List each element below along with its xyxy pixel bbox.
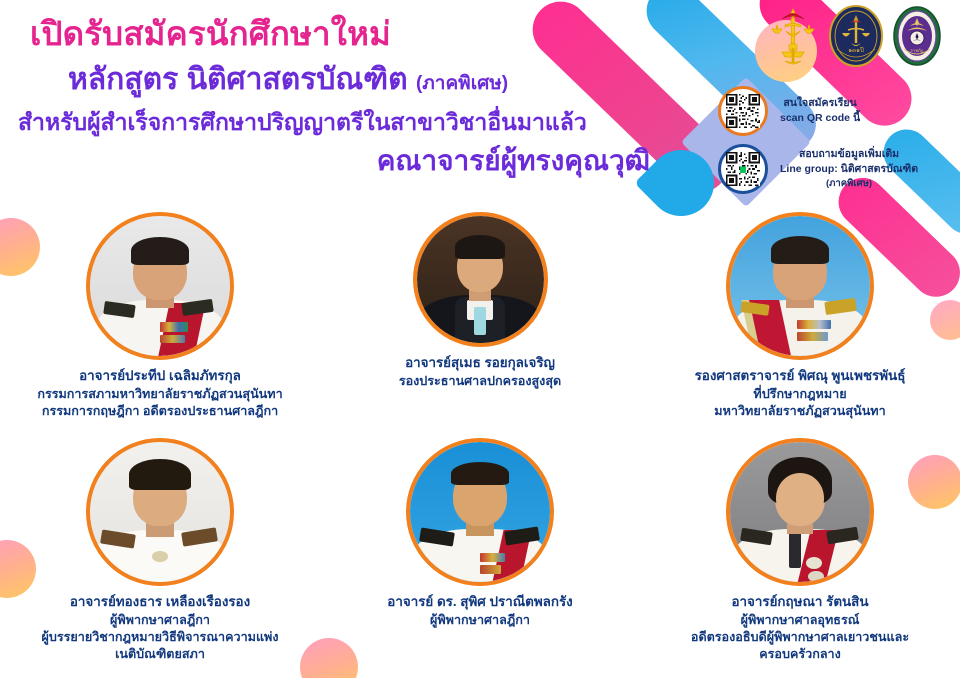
faculty-row-1: อาจารย์ประทีป เฉลิมภัทรกุล กรรมการสภามหา… [0, 212, 960, 438]
scales-of-justice-emblem-icon [766, 5, 820, 72]
faculty-name: อาจารย์ ดร. สุพิศ ปราณีตพลกรัง [387, 593, 572, 612]
faculty-caption: อาจารย์ ดร. สุพิศ ปราณีตพลกรัง ผู้พิพากษ… [387, 593, 572, 629]
faculty-title: รองประธานศาลปกครองสูงสุด [399, 373, 561, 390]
faculty-title: ผู้พิพากษาศาลฎีกา [387, 612, 572, 629]
headline-program: หลักสูตร นิติศาสตรบัณฑิต (ภาคพิเศษ) [0, 62, 660, 99]
svg-text:๑๓๑ปี: ๑๓๑ปี [848, 46, 864, 54]
faculty-title: ผู้พิพากษาศาลฎีกา [41, 612, 278, 629]
faculty-name: รองศาสตราจารย์ พิศณุ พูนเพชรพันธุ์ [695, 367, 906, 386]
qr-line-group-caption-line2: Line group: นิติศาสตรบัณฑิต [780, 162, 918, 177]
faculty-caption: อาจารย์ประทีป เฉลิมภัทรกุล กรรมการสภามหา… [37, 367, 282, 420]
qr-line-group-caption-line1: สอบถามข้อมูลเพิ่มเติม [780, 147, 918, 162]
qr-line-group-ring[interactable] [718, 144, 768, 194]
qr-apply-row[interactable]: สนใจสมัครเรียน scan QR code นี้ [718, 86, 860, 136]
headline-admissions: เปิดรับสมัครนักศึกษาใหม่ [0, 14, 660, 54]
faculty-title: กรรมการกฤษฎีกา อดีตรองประธานศาลฎีกา [37, 403, 282, 420]
suan-sunandha-university-seal-icon: ราชภัฏ [892, 5, 942, 72]
svg-text:ราชภัฏ: ราชภัฏ [910, 48, 923, 53]
avatar [413, 212, 548, 347]
qr-apply-caption: สนใจสมัครเรียน scan QR code นี้ [780, 96, 860, 126]
avatar [86, 212, 234, 360]
faculty-title: อดีตรองอธิบดีผู้พิพากษาศาลเยาวชนและ [691, 629, 909, 646]
faculty-card-prateep: อาจารย์ประทีป เฉลิมภัทรกุล กรรมการสภามหา… [0, 212, 320, 438]
qr-apply-caption-line2: scan QR code นี้ [780, 111, 860, 126]
faculty-card-supit: อาจารย์ ดร. สุพิศ ปราณีตพลกรัง ผู้พิพากษ… [320, 438, 640, 674]
faculty-name: อาจารย์ประทีป เฉลิมภัทรกุล [37, 367, 282, 386]
avatar [86, 438, 234, 586]
faculty-grid: อาจารย์ประทีป เฉลิมภัทรกุล กรรมการสภามหา… [0, 212, 960, 674]
faculty-caption: อาจารย์สุเมธ รอยกุลเจริญ รองประธานศาลปกค… [399, 354, 561, 390]
faculty-card-kritsana: อาจารย์กฤษณา รัตนสิน ผู้พิพากษาศาลอุทธรณ… [640, 438, 960, 674]
faculty-caption: อาจารย์ทองธาร เหลืองเรืองรอง ผู้พิพากษาศ… [41, 593, 278, 664]
qr-line-group-caption: สอบถามข้อมูลเพิ่มเติม Line group: นิติศา… [780, 147, 918, 190]
faculty-title: กรรมการสภามหาวิทยาลัยราชภัฏสวนสุนันทา [37, 386, 282, 403]
faculty-card-pisanu: รองศาสตราจารย์ พิศณุ พูนเพชรพันธุ์ ที่ปร… [640, 212, 960, 438]
headline-faculty: คณาจารย์ผู้ทรงคุณวุฒิ [0, 144, 660, 178]
faculty-caption: รองศาสตราจารย์ พิศณุ พูนเพชรพันธุ์ ที่ปร… [695, 367, 906, 420]
court-of-justice-seal-icon: ๑๓๑ปี [828, 5, 884, 72]
poster-root: เปิดรับสมัครนักศึกษาใหม่ หลักสูตร นิติศา… [0, 0, 960, 678]
headline-program-main: หลักสูตร นิติศาสตรบัณฑิต [68, 63, 416, 96]
qr-line-group-row[interactable]: สอบถามข้อมูลเพิ่มเติม Line group: นิติศา… [718, 144, 918, 194]
faculty-card-sumet: อาจารย์สุเมธ รอยกุลเจริญ รองประธานศาลปกค… [320, 212, 640, 438]
headline-program-special: (ภาคพิเศษ) [416, 73, 508, 94]
faculty-row-2: อาจารย์ทองธาร เหลืองเรืองรอง ผู้พิพากษาศ… [0, 438, 960, 674]
qr-apply-code-icon [726, 94, 760, 128]
qr-line-group-caption-line3: (ภาคพิเศษ) [780, 177, 918, 190]
qr-apply-caption-line1: สนใจสมัครเรียน [780, 96, 860, 111]
faculty-title: เนติบัณฑิตยสภา [41, 646, 278, 663]
faculty-name: อาจารย์กฤษณา รัตนสิน [691, 593, 909, 612]
qr-line-group-code-icon [726, 152, 760, 186]
qr-apply-ring[interactable] [718, 86, 768, 136]
faculty-title: มหาวิทยาลัยราชภัฏสวนสุนันทา [695, 403, 906, 420]
faculty-caption: อาจารย์กฤษณา รัตนสิน ผู้พิพากษาศาลอุทธรณ… [691, 593, 909, 664]
faculty-name: อาจารย์ทองธาร เหลืองเรืองรอง [41, 593, 278, 612]
faculty-title: ที่ปรึกษากฎหมาย [695, 386, 906, 403]
faculty-card-thongthan: อาจารย์ทองธาร เหลืองเรืองรอง ผู้พิพากษาศ… [0, 438, 320, 674]
avatar [726, 212, 874, 360]
faculty-title: ผู้บรรยายวิชากฎหมายวิธีพิจารณาความแพ่ง [41, 629, 278, 646]
avatar [406, 438, 554, 586]
faculty-title: ครอบครัวกลาง [691, 646, 909, 663]
avatar [726, 438, 874, 586]
logo-group: ๑๓๑ปี ราชภัฏ [766, 6, 946, 72]
headline-block: เปิดรับสมัครนักศึกษาใหม่ หลักสูตร นิติศา… [0, 14, 660, 178]
headline-eligibility: สำหรับผู้สำเร็จการศึกษาปริญญาตรีในสาขาวิ… [0, 108, 660, 136]
faculty-title: ผู้พิพากษาศาลอุทธรณ์ [691, 612, 909, 629]
faculty-name: อาจารย์สุเมธ รอยกุลเจริญ [399, 354, 561, 373]
